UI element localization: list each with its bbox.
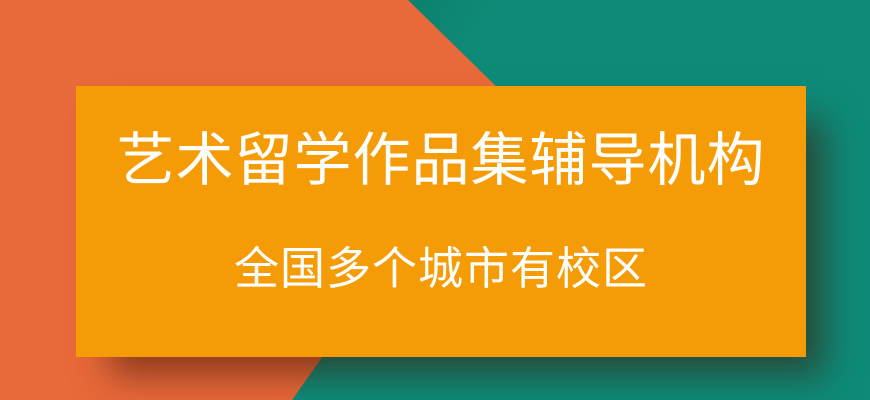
banner-image: 艺术留学作品集辅导机构 全国多个城市有校区 [0, 0, 870, 400]
headline-card: 艺术留学作品集辅导机构 全国多个城市有校区 [76, 86, 806, 357]
subline-text: 全国多个城市有校区 [76, 246, 806, 291]
headline-text: 艺术留学作品集辅导机构 [76, 132, 806, 190]
